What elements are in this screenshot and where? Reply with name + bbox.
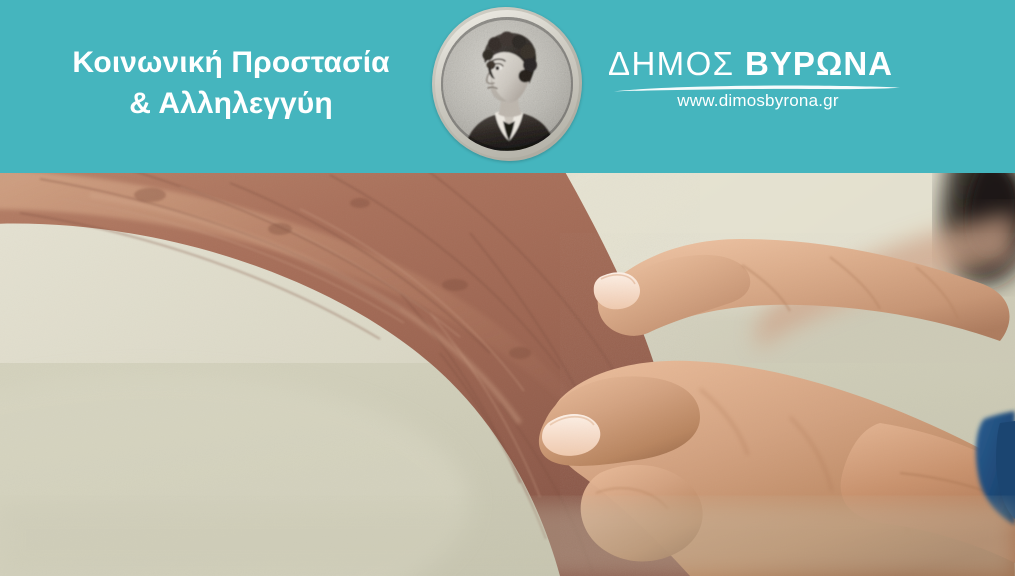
promo-banner-page: Κοινωνική Προστασία & Αλληλεγγύη: [0, 0, 1015, 576]
byron-portrait-medallion-icon: [432, 7, 582, 161]
page-title: Κοινωνική Προστασία & Αλληλεγγύη: [28, 42, 434, 124]
holding-hands-photo: [0, 173, 1015, 576]
header-banner: Κοινωνική Προστασία & Αλληλεγγύη: [0, 0, 1015, 173]
wordmark-byrona: ΒΥΡΩΝΑ: [745, 45, 893, 82]
municipality-wordmark[interactable]: ΔΗΜΟΣ ΒΥΡΩΝΑ www.dimosbyrona.gr: [608, 46, 908, 82]
page-title-line-1: Κοινωνική Προστασία: [28, 42, 434, 83]
wordmark-title: ΔΗΜΟΣ ΒΥΡΩΝΑ: [608, 46, 908, 82]
wordmark-dimos: ΔΗΜΟΣ: [608, 45, 734, 82]
wordmark-url[interactable]: www.dimosbyrona.gr: [608, 90, 908, 111]
page-title-line-2: & Αλληλεγγύη: [28, 83, 434, 124]
medallion-portrait-disc: [441, 17, 573, 151]
